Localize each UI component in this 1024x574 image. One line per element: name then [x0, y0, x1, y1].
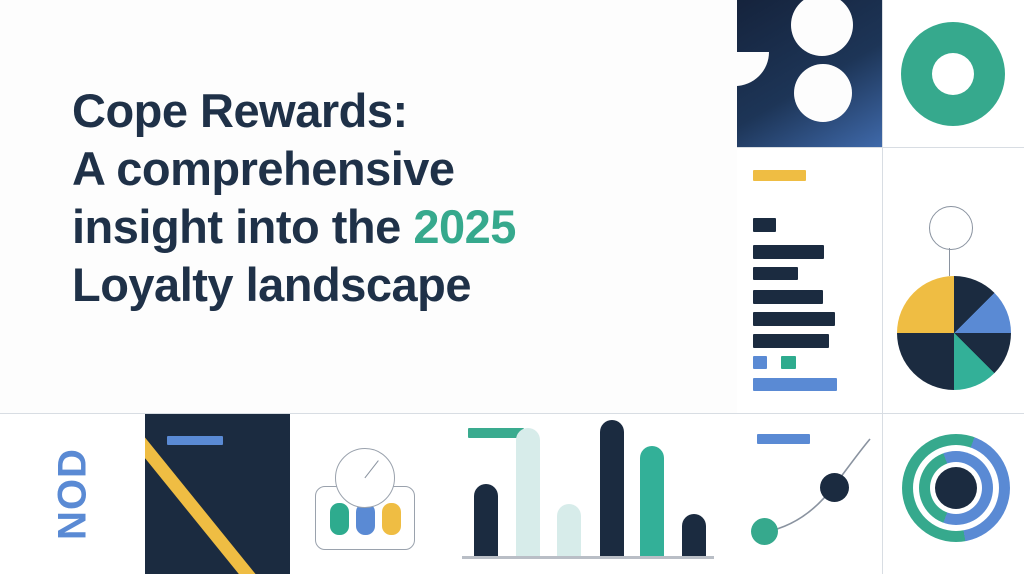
bar-chart-bar	[640, 446, 664, 556]
document-panel	[737, 148, 882, 413]
puzzle-notch-icon	[794, 64, 852, 122]
puzzle-corner-cut	[737, 52, 769, 86]
bar-chart-bar	[600, 420, 624, 556]
data-point-teal	[751, 518, 778, 545]
pie-chart	[897, 276, 1011, 390]
puzzle-notch-icon	[791, 0, 853, 56]
bar-chart-bar	[516, 428, 540, 556]
headline-line-2: A comprehensive	[72, 140, 692, 198]
document-line-bar	[753, 218, 776, 232]
stem-line	[949, 248, 950, 276]
headline-year-accent: 2025	[413, 200, 516, 253]
bar-chart-axis	[462, 556, 714, 559]
document-line-bar	[753, 245, 824, 259]
concentric-rings-panel	[883, 414, 1024, 574]
pie-chart-panel	[883, 148, 1024, 413]
bar-chart-bar	[474, 484, 498, 556]
document-line-bar	[753, 312, 835, 326]
document-footer-bar	[753, 378, 837, 391]
document-accent-bar	[753, 170, 806, 181]
document-swatch	[781, 356, 796, 369]
poster-canvas: Cope Rewards: A comprehensive insight in…	[0, 0, 1024, 574]
document-swatch	[753, 356, 767, 369]
line-chart-curve	[737, 414, 882, 574]
line-chart-panel	[737, 414, 882, 574]
pill-teal	[330, 503, 349, 535]
bar-chart-bar	[557, 504, 581, 556]
rotated-word-panel: NOD	[0, 414, 145, 574]
gauge-needle	[364, 460, 379, 478]
circle-outline-icon	[929, 206, 973, 250]
page-title: Cope Rewards: A comprehensive insight in…	[72, 82, 692, 314]
diagonal-stripe-panel	[145, 414, 290, 574]
headline-line-4: Loyalty landscape	[72, 256, 692, 314]
document-line-bar	[753, 267, 798, 280]
diagonal-panel-tag	[167, 436, 223, 445]
headline-line-1: Cope Rewards:	[72, 82, 692, 140]
bar-chart-bar	[682, 514, 706, 556]
donut-panel	[883, 0, 1024, 147]
puzzle-graphic	[737, 0, 882, 147]
headline-line-3-text: insight into the	[72, 200, 413, 253]
gauge-card-panel	[290, 414, 440, 574]
document-line-bar	[753, 334, 829, 348]
bar-chart-panel	[440, 414, 737, 574]
data-point-navy	[820, 473, 849, 502]
pill-yellow	[382, 503, 401, 535]
donut-chart-icon	[901, 22, 1005, 126]
ring-core	[935, 467, 977, 509]
gauge-icon	[335, 448, 395, 508]
document-line-bar	[753, 290, 823, 304]
rotated-word: NOD	[50, 448, 95, 540]
headline-line-3: insight into the 2025	[72, 198, 692, 256]
